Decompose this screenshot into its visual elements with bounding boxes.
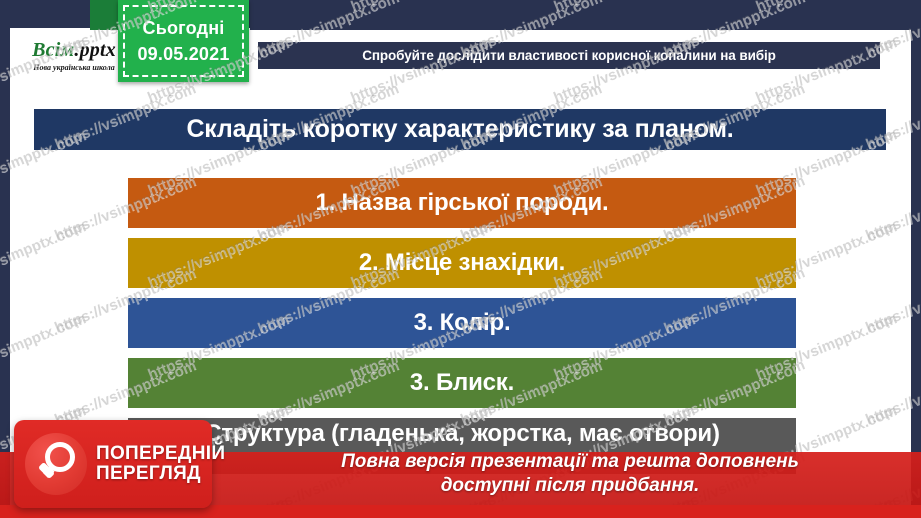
subtitle-text: Спробуйте дослідити властивості корисної… [362,48,776,63]
brand-extension: pptx [80,39,116,61]
step-bar-4: 3. Блиск. [128,358,796,408]
today-date-tag: Сьогодні 09.05.2021 [118,0,249,82]
preview-badge-text: ПОПЕРЕДНІЙ ПЕРЕГЛЯД [96,444,225,484]
purchase-overlay-text: Повна версія презентації та решта доповн… [225,450,915,512]
step-bar-5-label: Структура (гладенька, жорстка, має отвор… [128,421,796,447]
magnifier-icon-svg [25,433,87,495]
today-date: 09.05.2021 [137,41,229,67]
slide-frame-left [0,0,10,518]
brand-name: Всім [32,39,74,61]
brand-logo-main: Всім.pptx [32,40,116,60]
magnifier-icon [25,433,87,495]
watermark-row: https://vsimpptx.comhttps://vsimpptx.com… [0,154,921,172]
step-bar-1-label: 1. Назва гірської породи. [315,189,608,217]
purchase-overlay-line2: доступні після придбання. [225,474,915,498]
step-bar-2: 2. Місце знахідки. [128,238,796,288]
presentation-slide: Всім.pptx Нова українська школа Сьогодні… [0,0,921,518]
preview-badge[interactable]: ПОПЕРЕДНІЙ ПЕРЕГЛЯД [14,420,212,508]
preview-badge-line2: ПЕРЕГЛЯД [96,464,225,484]
brand-logo: Всім.pptx Нова українська школа [14,30,134,82]
step-bar-1: 1. Назва гірської породи. [128,178,796,228]
preview-badge-line1: ПОПЕРЕДНІЙ [96,444,225,464]
slide-frame-right [911,0,921,518]
step-bar-2-label: 2. Місце знахідки. [359,249,565,277]
watermark-text: https://vsimpptx.com [0,310,89,382]
brand-tagline: Нова українська школа [33,63,114,72]
watermark-text: https://vsimpptx.com [0,218,89,290]
subtitle-bar: Спробуйте дослідити властивості корисної… [258,42,880,69]
purchase-overlay-line1: Повна версія презентації та решта доповн… [225,450,915,474]
today-label: Сьогодні [143,15,225,41]
step-bar-4-label: 3. Блиск. [410,369,514,397]
slide-title-bar: Складіть коротку характеристику за плано… [34,109,886,150]
step-bar-3-label: 3. Колір. [414,309,511,337]
page-title: Складіть коротку характеристику за плано… [186,115,733,144]
step-bar-3: 3. Колір. [128,298,796,348]
